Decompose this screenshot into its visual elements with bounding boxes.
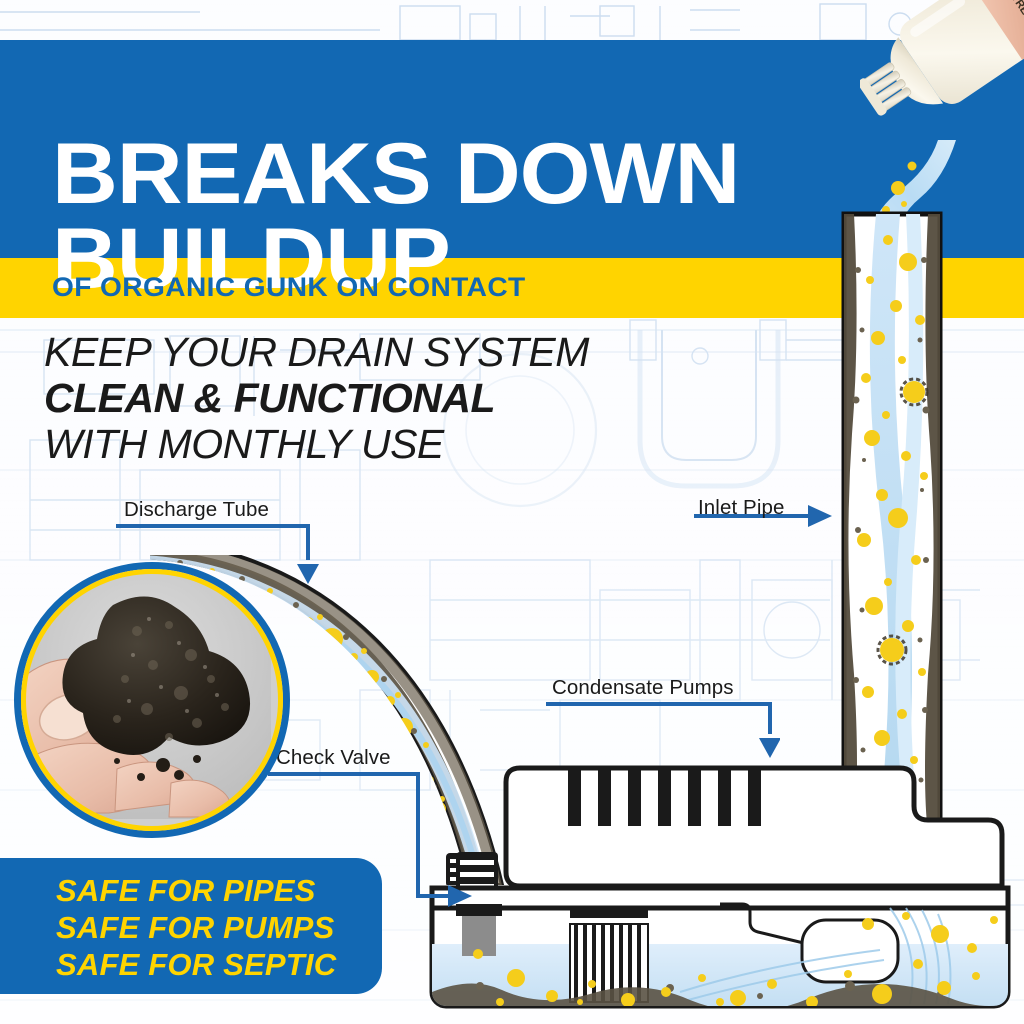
safety-claim-septic: SAFE FOR SEPTIC (56, 947, 382, 984)
infographic-canvas: BREAKS DOWN BUILDUP OF ORGANIC GUNK ON C… (0, 0, 1024, 1024)
gunk-photo (21, 569, 271, 819)
tagline-line-1: KEEP YOUR DRAIN SYSTEM (44, 330, 664, 376)
safety-claim-pumps: SAFE FOR PUMPS (56, 910, 382, 947)
safety-claims-panel: SAFE FOR PIPES SAFE FOR PUMPS SAFE FOR S… (0, 858, 382, 994)
tagline-line-3: WITH MONTHLY USE (44, 422, 664, 468)
callout-label-condensate-pumps: Condensate Pumps (552, 676, 734, 700)
condensate-pump-diagram (420, 748, 1024, 1024)
inlet-pipe-diagram (836, 210, 956, 840)
tagline-block: KEEP YOUR DRAIN SYSTEM CLEAN & FUNCTIONA… (44, 330, 664, 468)
safety-claim-pipes: SAFE FOR PIPES (56, 873, 382, 910)
callout-label-discharge-tube: Discharge Tube (124, 498, 269, 522)
callout-label-inlet-pipe: Inlet Pipe (698, 496, 784, 520)
gunk-photo-inset (14, 562, 290, 838)
headline-line-1: BREAKS DOWN (52, 126, 739, 222)
callout-label-check-valve: Check Valve (276, 746, 391, 770)
subheadline: OF ORGANIC GUNK ON CONTACT (52, 272, 526, 303)
tagline-line-2: CLEAN & FUNCTIONAL (44, 376, 664, 422)
